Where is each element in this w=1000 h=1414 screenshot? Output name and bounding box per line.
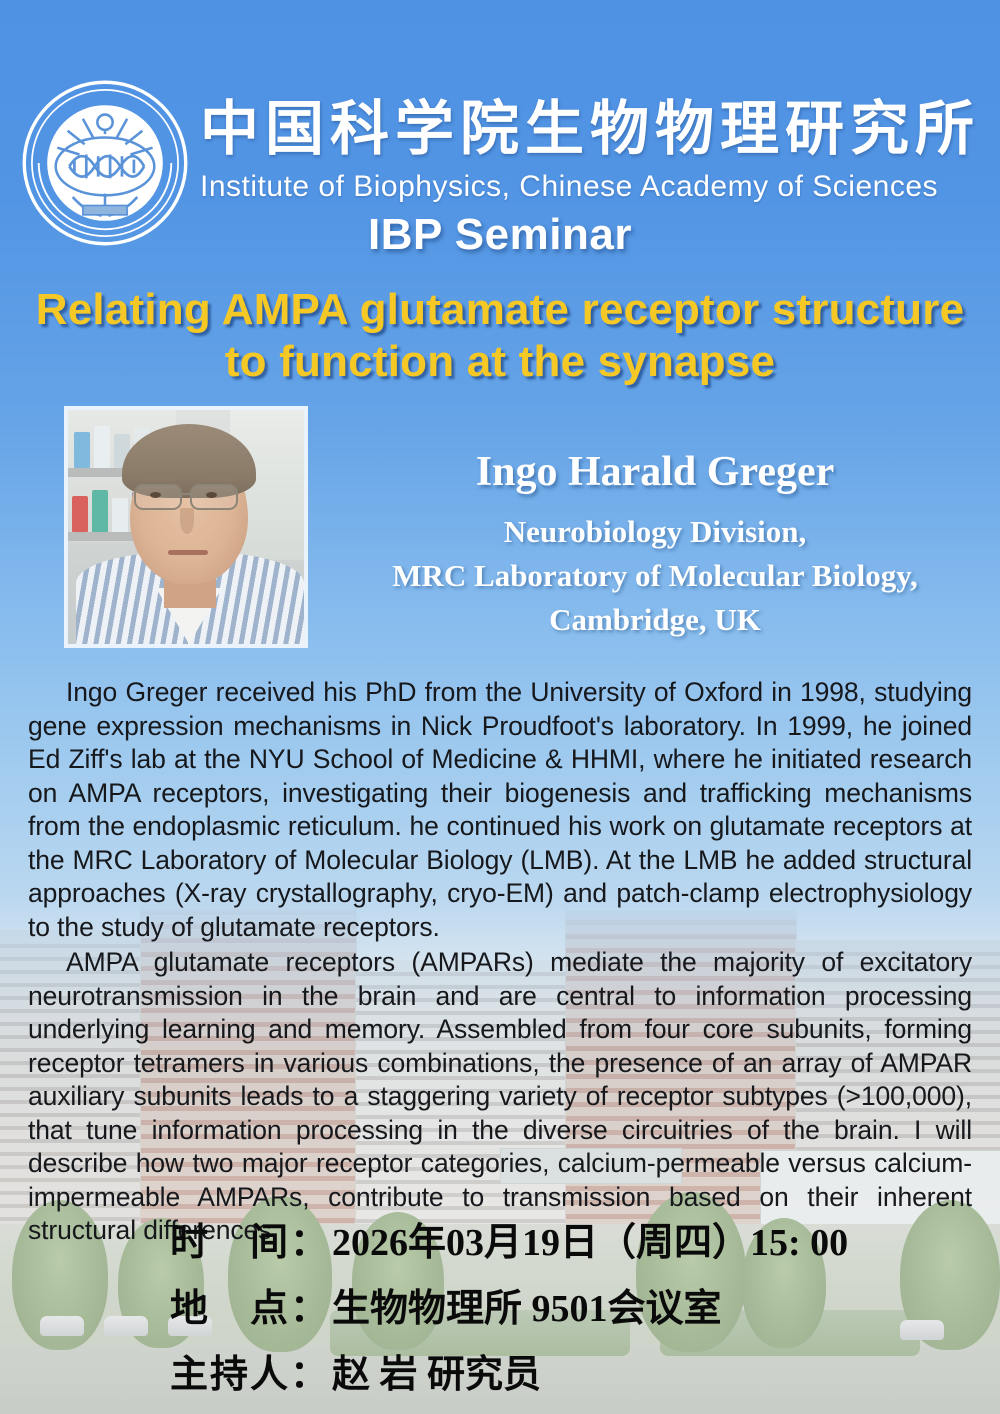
body-text: Ingo Greger received his PhD from the Un… [28,676,972,1248]
org-name-cn: 中国科学院生物物理研究所 [200,96,980,164]
abstract-paragraph: AMPA glutamate receptors (AMPARs) mediat… [28,946,972,1248]
talk-title: Relating AMPA glutamate receptor structu… [18,284,982,388]
event-host: 主持人：赵 岩 研究员 [170,1356,848,1394]
car [40,1316,84,1336]
organization-names: 中国科学院生物物理研究所 Institute of Biophysics, Ch… [200,78,980,204]
car [900,1320,944,1340]
speaker-photo [64,406,308,648]
speaker-brow [142,476,176,481]
speaker-eye [206,492,217,498]
event-venue-label: 地 点： [170,1288,330,1330]
event-time-value: 2026年03月19日（周四）15: 00 [332,1222,848,1264]
event-time: 时 间：2026年03月19日（周四）15: 00 [170,1224,848,1262]
seminar-kicker: IBP Seminar [0,210,1000,260]
speaker-nose [180,508,194,534]
speaker-bio-paragraph: Ingo Greger received his PhD from the Un… [28,676,972,944]
affiliation-line: MRC Laboratory of Molecular Biology, [330,554,980,598]
speaker-affiliation: Neurobiology Division, MRC Laboratory of… [330,510,980,642]
speaker-brow [202,476,236,481]
speaker-eye [150,492,161,498]
event-venue-value: 生物物理所 9501会议室 [332,1288,722,1330]
event-time-label: 时 间： [170,1222,330,1264]
org-name-en: Institute of Biophysics, Chinese Academy… [200,170,980,204]
event-venue: 地 点：生物物理所 9501会议室 [170,1290,848,1328]
affiliation-line: Neurobiology Division, [330,510,980,554]
affiliation-line: Cambridge, UK [330,598,980,642]
event-host-label: 主持人： [170,1354,330,1396]
event-host-value: 赵 岩 研究员 [332,1354,541,1396]
speaker-mouth [168,550,208,555]
seminar-poster: 中国科学院生物物理研究所 Institute of Biophysics, Ch… [0,0,1000,1414]
car [104,1316,148,1336]
event-details: 时 间：2026年03月19日（周四）15: 00 地 点：生物物理所 9501… [170,1224,848,1394]
speaker-name: Ingo Harald Greger [330,448,980,496]
